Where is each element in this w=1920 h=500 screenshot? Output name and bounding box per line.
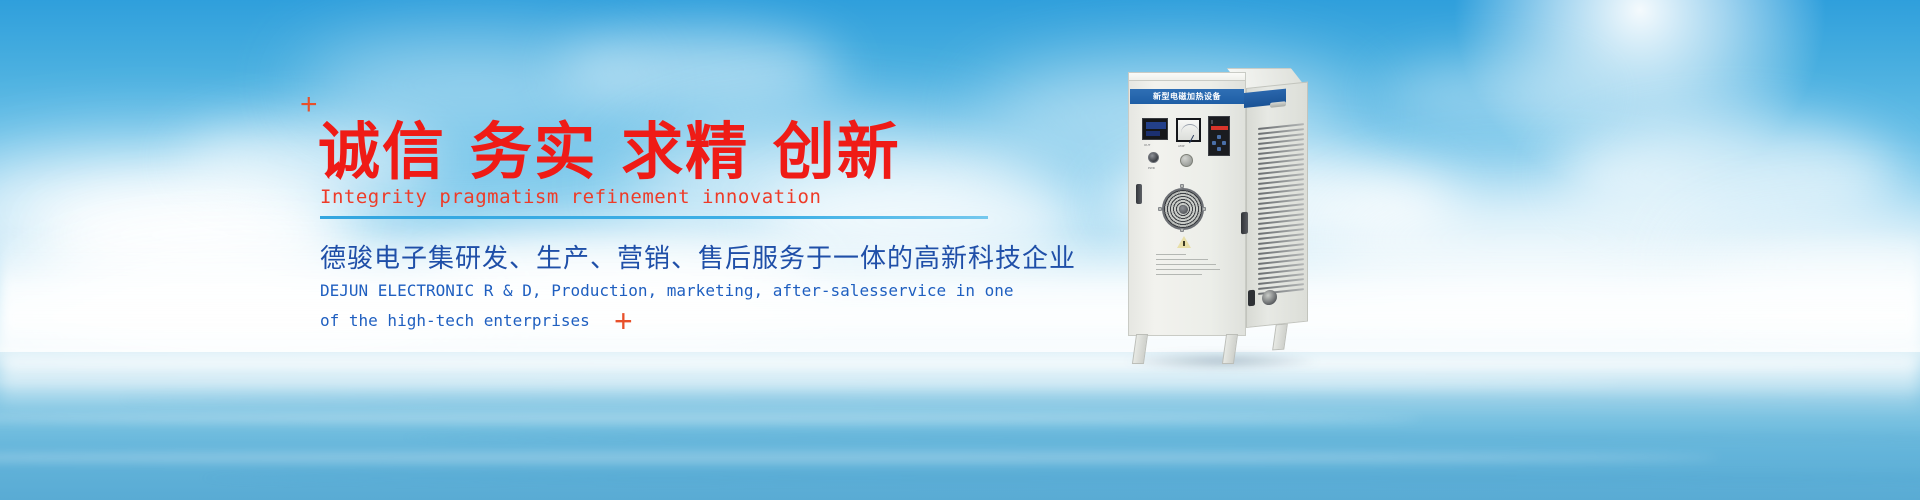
promo-banner: + + 诚信 务实 求精 创新 Integrity pragmatism ref…	[0, 0, 1920, 500]
headline-english: Integrity pragmatism refinement innovati…	[320, 186, 821, 208]
spec-line	[1156, 264, 1216, 265]
spec-label-lines	[1156, 254, 1222, 279]
meter-scale-arc	[1181, 124, 1199, 133]
subtitle-english-line2: of the high-tech enterprises	[320, 306, 1014, 336]
exhaust-fan-grille	[1162, 188, 1204, 230]
support-leg-rear	[1272, 324, 1288, 351]
keypad-indicator-row	[1211, 120, 1228, 124]
fan-hub	[1179, 205, 1188, 214]
keypad-button-down	[1217, 147, 1221, 151]
fan-screw-right	[1202, 207, 1206, 211]
product-machine: 新型电磁加热设备 OUT AMP PWR	[1128, 62, 1308, 362]
spec-line	[1156, 269, 1220, 270]
control-keypad	[1208, 116, 1230, 156]
front-door-handle	[1136, 184, 1142, 204]
rotary-knob	[1180, 154, 1193, 167]
spec-line	[1156, 259, 1208, 260]
meter-needle	[1189, 135, 1194, 143]
keypad-button-right	[1222, 141, 1226, 145]
keypad-button-up	[1217, 135, 1221, 139]
selector-knob	[1148, 152, 1159, 163]
fan-screw-top	[1180, 184, 1184, 188]
subtitle-chinese: 德骏电子集研发、生产、营销、售后服务于一体的高新科技企业	[320, 238, 1076, 275]
keypad-button-left	[1212, 141, 1216, 145]
power-inlet-port	[1248, 290, 1255, 307]
side-ventilation-slots	[1258, 123, 1304, 310]
machine-plate-label: 新型电磁加热设备	[1153, 91, 1221, 102]
spec-line	[1156, 254, 1186, 255]
plus-decoration-top: +	[300, 90, 318, 120]
analog-meter	[1176, 118, 1201, 142]
subtitle-english-line1: DEJUN ELECTRONIC R & D, Production, mark…	[320, 276, 1014, 306]
support-leg-front-left	[1132, 334, 1148, 364]
warning-triangle-icon	[1177, 236, 1191, 248]
fan-screw-left	[1158, 207, 1162, 211]
display-segment-row2	[1146, 131, 1160, 136]
keypad-red-display	[1211, 126, 1228, 130]
subtitle-english: DEJUN ELECTRONIC R & D, Production, mark…	[320, 276, 1014, 335]
label-meter: AMP	[1178, 144, 1184, 148]
spec-line	[1156, 274, 1202, 275]
display-segment-row1	[1146, 122, 1166, 129]
headline-chinese: 诚信 务实 求精 创新	[318, 118, 901, 186]
fan-screw-bottom	[1180, 228, 1184, 232]
divider-line	[320, 216, 988, 219]
machine-title-plate: 新型电磁加热设备	[1130, 89, 1244, 104]
support-leg-front-right	[1222, 334, 1238, 364]
sea-glare	[0, 352, 1920, 412]
label-knob-left: PWR	[1148, 166, 1155, 170]
label-digital: OUT	[1144, 143, 1150, 147]
digital-display	[1142, 118, 1168, 140]
side-door-handle	[1241, 212, 1248, 235]
